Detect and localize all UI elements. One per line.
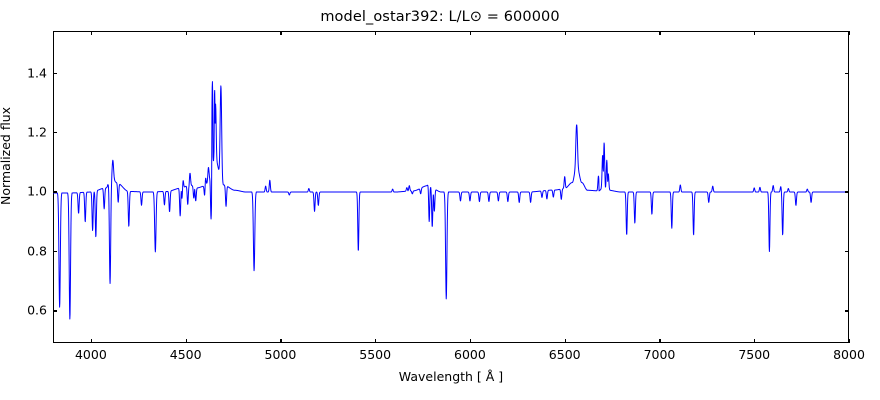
x-tick-mark [470,339,471,343]
y-tick-mark [845,251,849,252]
y-tick-mark [53,251,57,252]
y-tick-mark [845,191,849,192]
plot-area: 0.60.81.01.21.4 [53,31,849,343]
x-tick-mark [754,31,755,35]
y-tick-mark [845,310,849,311]
y-tick-mark [53,132,57,133]
x-tick-mark [754,339,755,343]
x-tick-label: 4000 [56,347,126,362]
spectrum-line-chart [53,31,849,343]
x-tick-mark [849,339,850,343]
x-tick-mark [470,31,471,35]
page-title: model_ostar392: L/L⊙ = 600000 [0,9,880,25]
y-axis-label-text: Normalized flux [0,0,13,312]
x-tick-label: 6500 [530,347,600,362]
x-tick-label: 7000 [624,347,694,362]
y-tick-mark [845,73,849,74]
x-tick-mark [565,31,566,35]
y-tick-mark [53,191,57,192]
y-tick-mark [53,73,57,74]
x-tick-mark [659,31,660,35]
x-tick-mark [91,31,92,35]
x-tick-mark [186,31,187,35]
x-tick-label: 7500 [719,347,789,362]
x-tick-mark [186,339,187,343]
y-tick-mark [845,132,849,133]
x-tick-mark [565,339,566,343]
x-tick-mark [375,31,376,35]
x-tick-mark [849,31,850,35]
spectrum-figure: model_ostar392: L/L⊙ = 600000 0.60.81.01… [0,0,880,400]
x-tick-label: 8000 [814,347,880,362]
x-tick-label: 6000 [435,347,505,362]
y-axis-label: Normalized flux [0,0,16,312]
x-tick-label: 5500 [340,347,410,362]
x-tick-mark [375,339,376,343]
x-axis-label: Wavelength [ Å ] [53,369,849,384]
x-tick-mark [280,31,281,35]
x-tick-mark [91,339,92,343]
x-tick-mark [280,339,281,343]
x-tick-label: 5000 [245,347,315,362]
y-tick-mark [53,310,57,311]
spectrum-trace [53,82,849,319]
x-tick-mark [659,339,660,343]
x-tick-label: 4500 [151,347,221,362]
